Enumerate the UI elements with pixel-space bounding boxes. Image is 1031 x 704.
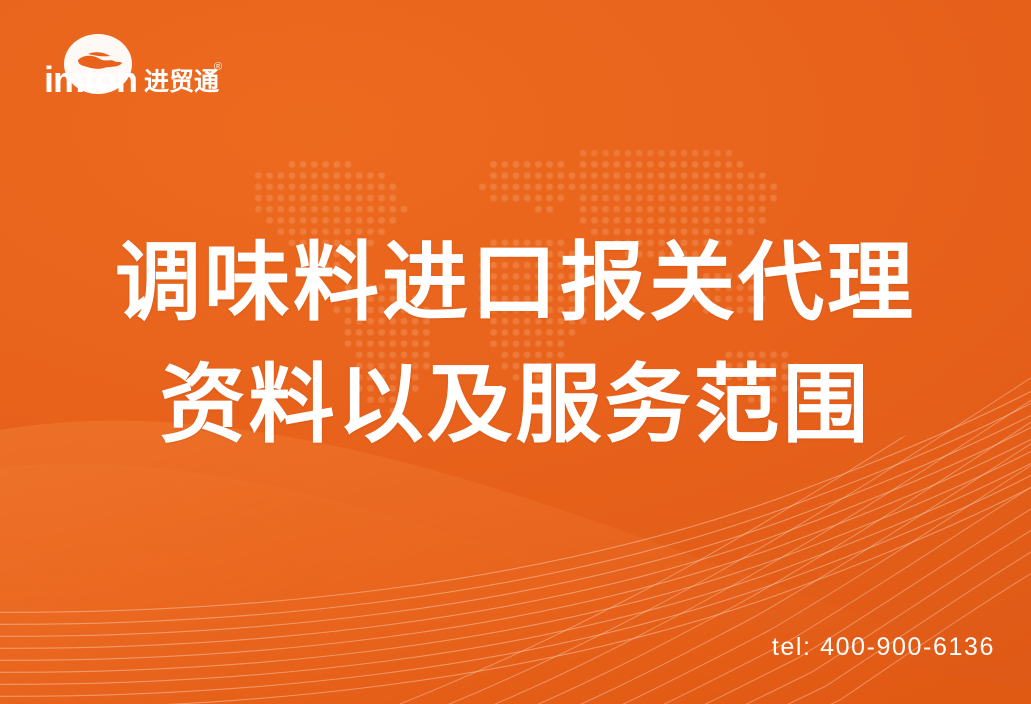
trademark-icon: ® xyxy=(214,61,222,73)
headline-block: 调味料进口报关代理 资料以及服务范围 xyxy=(0,222,1031,466)
logo-svg: imton 进贸通 ® xyxy=(42,30,222,102)
contact-phone: tel: 400-900-6136 xyxy=(772,632,995,662)
brand-logo[interactable]: imton 进贸通 ® xyxy=(42,30,222,102)
headline-line-1: 调味料进口报关代理 xyxy=(0,222,1031,344)
headline-line-2: 资料以及服务范围 xyxy=(0,344,1031,466)
promo-banner: imton 进贸通 ® 调味料进口报关代理 资料以及服务范围 tel: 400-… xyxy=(0,0,1031,704)
logo-chinese-name: 进贸通 xyxy=(144,68,219,96)
logo-wordmark: imton xyxy=(44,59,137,100)
